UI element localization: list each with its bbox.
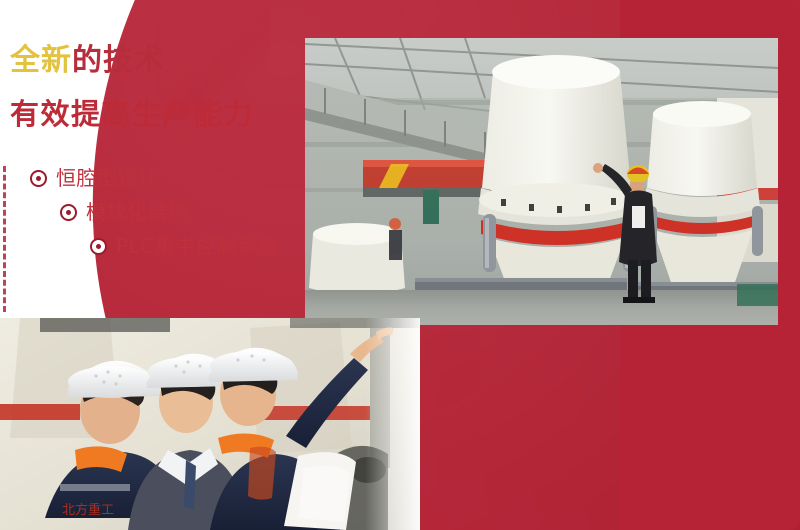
promo-banner: 全新的技术 有效提高生产能力 恒腔型设计 模块化结构 PLC集中控制系统 (0, 0, 800, 530)
bullet-circle-icon (90, 238, 107, 255)
factory-photo-art (305, 38, 778, 325)
feature-list: 恒腔型设计 模块化结构 PLC集中控制系统 (0, 168, 310, 270)
engineers-photo-art: 北方重工 (0, 318, 420, 530)
headline-rest: 的技术 (72, 43, 165, 78)
list-item: 恒腔型设计 (0, 168, 310, 188)
page-subtitle: 有效提高生产能力 (10, 100, 254, 129)
feature-label: PLC集中控制系统 (116, 236, 278, 256)
headline-block: 全新的技术 有效提高生产能力 恒腔型设计 模块化结构 PLC集中控制系统 (0, 0, 310, 318)
feature-label: 模块化结构 (86, 202, 189, 222)
feature-label: 恒腔型设计 (56, 168, 159, 188)
factory-cone-crushers-photo (305, 38, 778, 325)
engineers-site-photo: 北方重工 (0, 318, 420, 530)
headline-highlight: 全新 (10, 43, 72, 78)
bullet-circle-icon (60, 204, 77, 221)
page-title: 全新的技术 (10, 46, 165, 76)
svg-text:北方重工: 北方重工 (62, 502, 114, 518)
bullet-circle-icon (30, 170, 47, 187)
list-item: 模块化结构 (0, 202, 310, 222)
list-item: PLC集中控制系统 (0, 236, 310, 256)
